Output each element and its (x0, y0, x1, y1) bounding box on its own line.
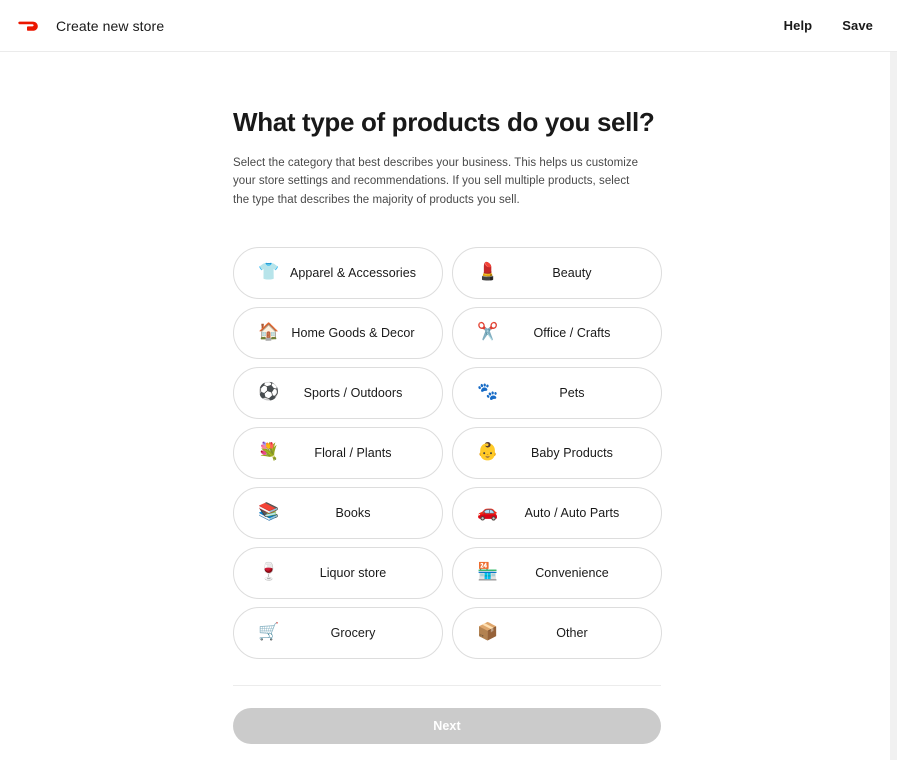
paw-prints-icon: 🐾 (477, 384, 499, 401)
category-card[interactable]: ✂️Office / Crafts (452, 307, 662, 359)
car-icon: 🚗 (477, 504, 499, 521)
category-label: Floral / Plants (280, 446, 432, 460)
next-button[interactable]: Next (233, 708, 661, 744)
scissors-icon: ✂️ (477, 324, 499, 341)
category-card[interactable]: 🐾Pets (452, 367, 662, 419)
category-label: Other (499, 626, 651, 640)
category-card[interactable]: 👕Apparel & Accessories (233, 247, 443, 299)
category-card[interactable]: 🏪Convenience (452, 547, 662, 599)
tshirt-icon: 👕 (258, 264, 280, 281)
category-label: Grocery (280, 626, 432, 640)
package-box-icon: 📦 (477, 624, 499, 641)
category-card[interactable]: 🍷Liquor store (233, 547, 443, 599)
category-label: Convenience (499, 566, 651, 580)
category-grid: 👕Apparel & Accessories💄Beauty🏠Home Goods… (233, 247, 661, 659)
page-title: What type of products do you sell? (233, 107, 661, 138)
soccer-ball-icon: ⚽ (258, 384, 280, 401)
doordash-logo (18, 16, 44, 36)
help-button[interactable]: Help (784, 18, 813, 33)
category-card[interactable]: 🏠Home Goods & Decor (233, 307, 443, 359)
category-label: Apparel & Accessories (280, 266, 432, 280)
category-card[interactable]: 💐Floral / Plants (233, 427, 443, 479)
category-label: Auto / Auto Parts (499, 506, 651, 520)
category-card[interactable]: 📚Books (233, 487, 443, 539)
create-store-page: Create new store Help Save What type of … (0, 0, 897, 760)
page-description: Select the category that best describes … (233, 154, 645, 208)
baby-icon: 👶 (477, 444, 499, 461)
bouquet-icon: 💐 (258, 444, 280, 461)
category-label: Baby Products (499, 446, 651, 460)
form-wrapper: What type of products do you sell? Selec… (233, 107, 661, 744)
category-card[interactable]: 🛒Grocery (233, 607, 443, 659)
category-card[interactable]: ⚽Sports / Outdoors (233, 367, 443, 419)
wine-glass-icon: 🍷 (258, 564, 280, 581)
category-label: Office / Crafts (499, 326, 651, 340)
top-navigation-bar: Create new store Help Save (0, 0, 897, 52)
category-label: Liquor store (280, 566, 432, 580)
category-card[interactable]: 📦Other (452, 607, 662, 659)
section-divider (233, 685, 661, 686)
convenience-store-icon: 🏪 (477, 564, 499, 581)
category-label: Pets (499, 386, 651, 400)
category-card[interactable]: 💄Beauty (452, 247, 662, 299)
save-button[interactable]: Save (842, 18, 873, 33)
lipstick-icon: 💄 (477, 264, 499, 281)
shopping-cart-icon: 🛒 (258, 624, 280, 641)
category-label: Beauty (499, 266, 651, 280)
main-content: What type of products do you sell? Selec… (0, 52, 890, 760)
books-icon: 📚 (258, 504, 280, 521)
category-label: Home Goods & Decor (280, 326, 432, 340)
header-actions: Help Save (784, 18, 873, 33)
category-card[interactable]: 👶Baby Products (452, 427, 662, 479)
scrollbar-track[interactable] (890, 51, 897, 760)
house-icon: 🏠 (258, 324, 280, 341)
brand-area: Create new store (18, 16, 164, 36)
category-card[interactable]: 🚗Auto / Auto Parts (452, 487, 662, 539)
category-label: Sports / Outdoors (280, 386, 432, 400)
page-title-header: Create new store (56, 18, 164, 34)
category-label: Books (280, 506, 432, 520)
